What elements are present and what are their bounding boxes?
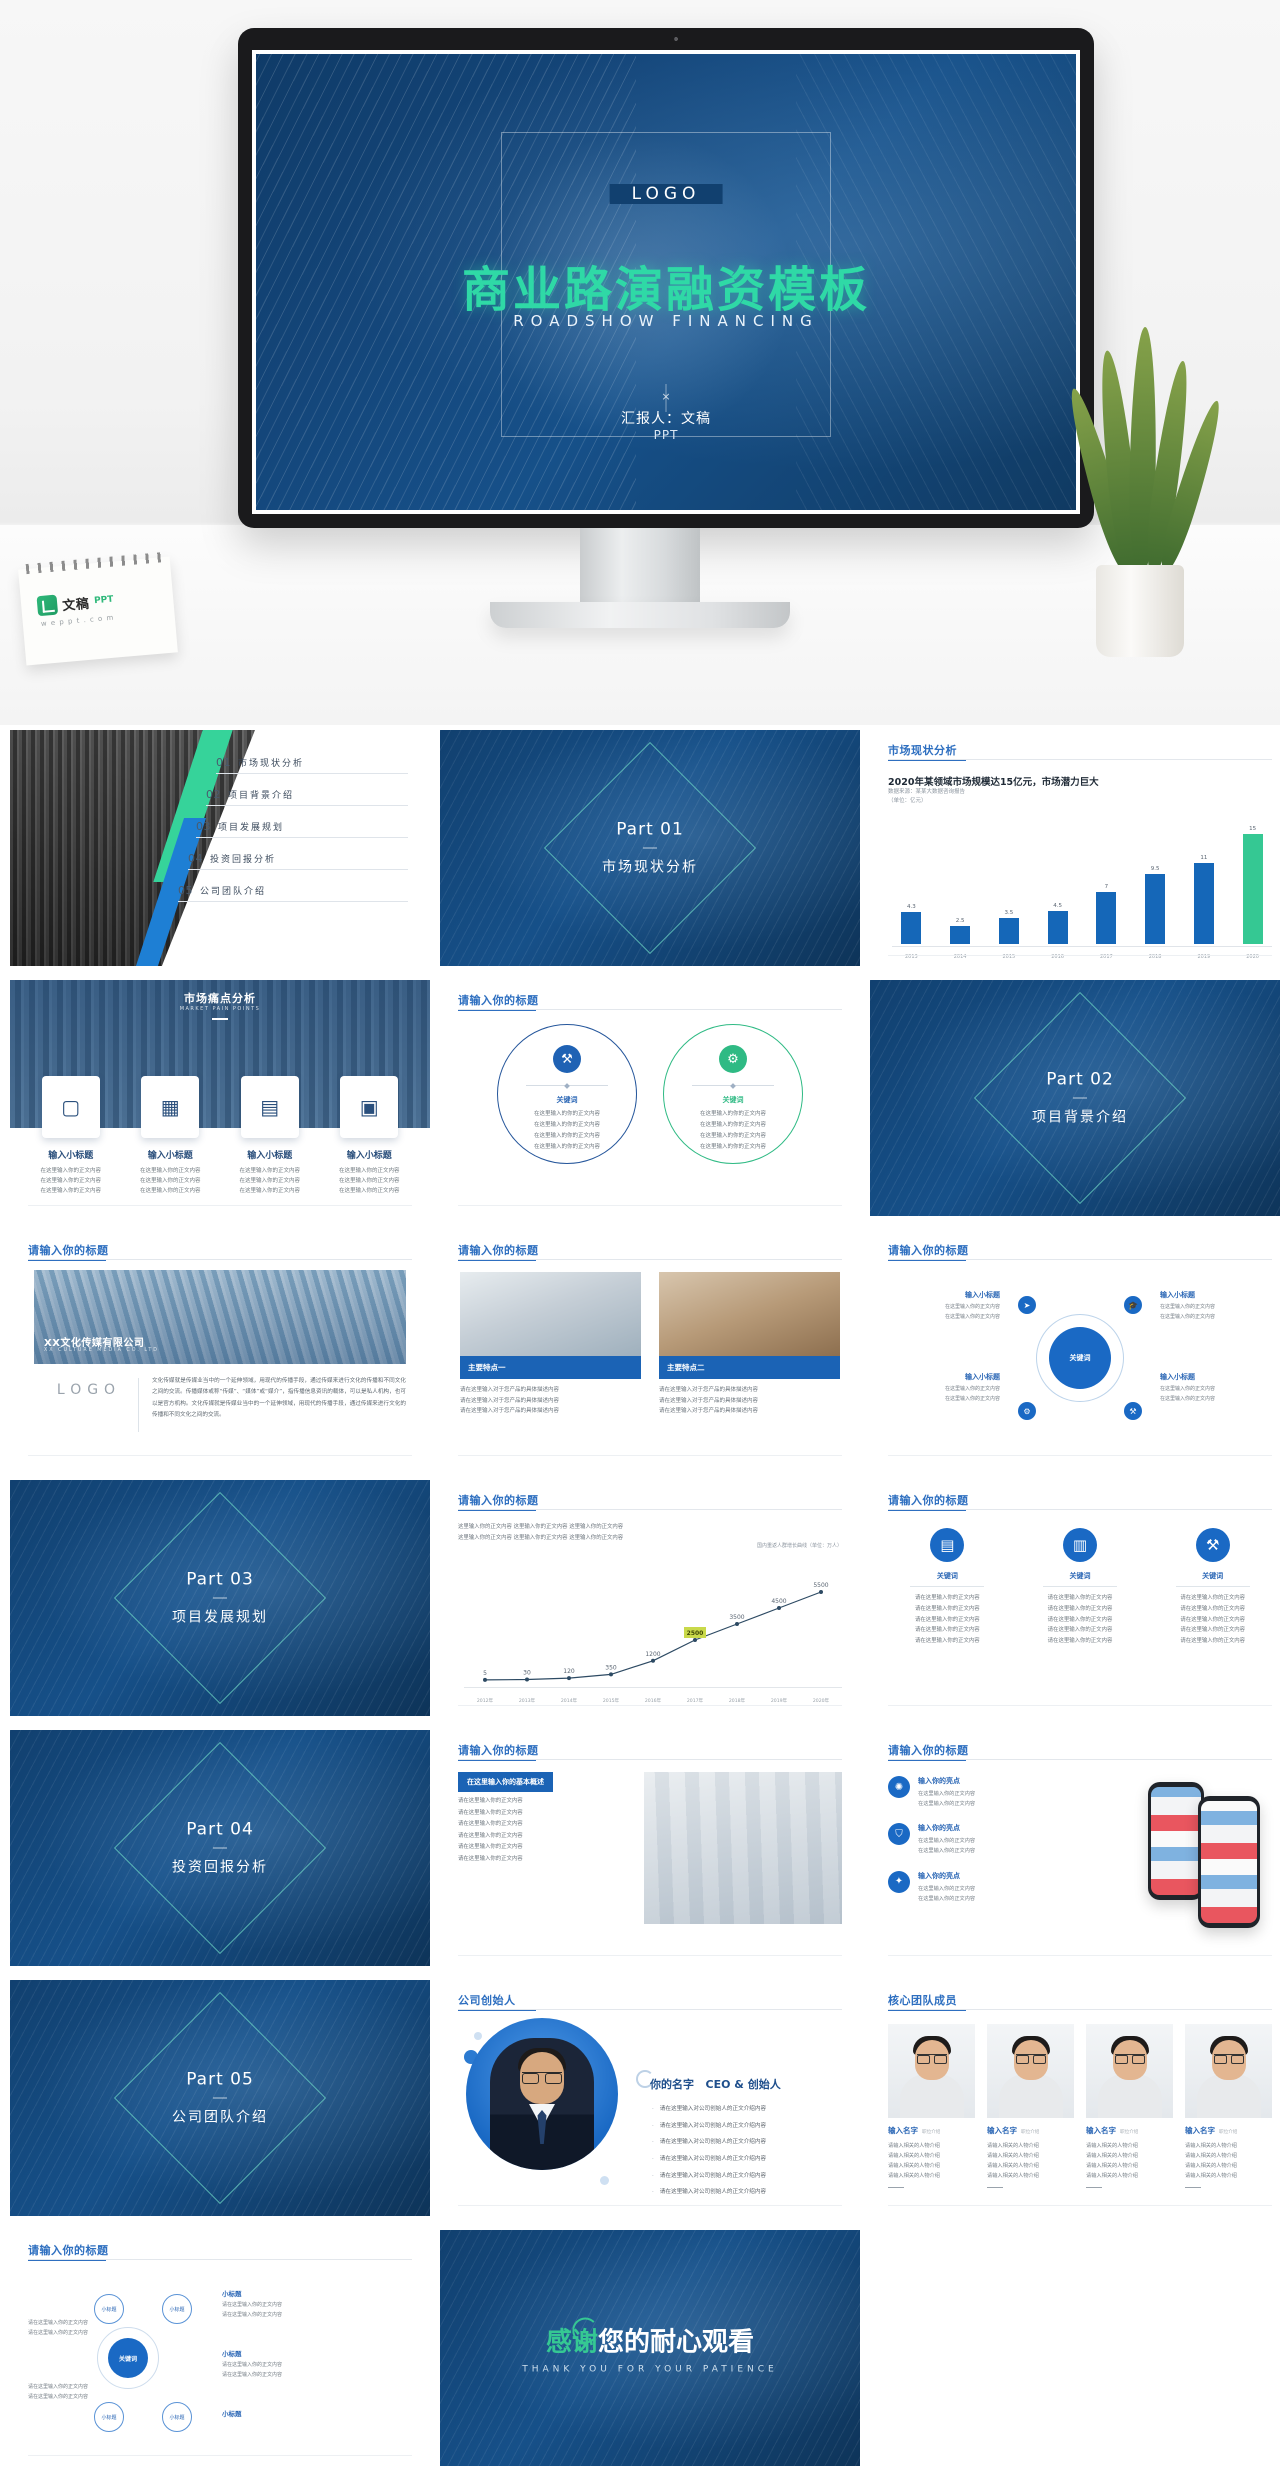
chart-blurb-line1: 这里输入你的正文内容 这里输入你的正文内容 这里输入你的正文内容 bbox=[458, 1524, 623, 1530]
radial-title: 小标题 bbox=[222, 2348, 330, 2358]
founder-bullets: 请在这里输入对公司创始人的正文介绍内容请在这里输入对公司创始人的正文介绍内容请在… bbox=[652, 2104, 842, 2204]
pain-point-card[interactable]: ▦输入小标题在这里输入你的正文内容在这里输入你的正文内容在这里输入你的正文内容 bbox=[128, 1076, 214, 1197]
title-rule bbox=[28, 1259, 412, 1260]
bar bbox=[1145, 874, 1165, 944]
keyword-body: 请在这里输入你的正文内容请在这里输入你的正文内容请在这里输入你的正文内容请在这里… bbox=[1021, 1593, 1140, 1647]
slide-core-team[interactable]: 核心团队成员 输入名字职位介绍请输入相关的人物介绍请输入相关的人物介绍请输入相关… bbox=[870, 1980, 1280, 2216]
team-member-card[interactable]: 输入名字职位介绍请输入相关的人物介绍请输入相关的人物介绍请输入相关的人物介绍请输… bbox=[1086, 2024, 1173, 2188]
part-heading: Part 01 市场现状分析 bbox=[550, 820, 750, 877]
bar-value-label: 4.3 bbox=[907, 904, 916, 910]
toc-item[interactable]: 05 公司团队介绍 bbox=[178, 884, 408, 902]
icon-tile: ▦ bbox=[141, 1076, 199, 1138]
founder-bullet: 请在这里输入对公司创始人的正文介绍内容 bbox=[652, 2121, 842, 2132]
feature-body: 请在这里输入对于您产品的具体描述内容请在这里输入对于您产品的具体描述内容请在这里… bbox=[659, 1385, 840, 1417]
bar bbox=[1096, 892, 1116, 944]
desk-photo bbox=[644, 1772, 842, 1924]
tools-icon: ⚒ bbox=[553, 1045, 581, 1073]
inbox-icon: ▣ bbox=[360, 1095, 379, 1119]
highlight-body: 在这里输入你的正文内容在这里输入你的正文内容 bbox=[918, 1789, 975, 1809]
page-title: 请输入你的标题 bbox=[458, 1742, 539, 1758]
founder-role: CEO & 创始人 bbox=[706, 2078, 781, 2091]
chart-source-line: 数据来源：某某大数据咨询报告 bbox=[888, 789, 965, 795]
member-photo bbox=[888, 2024, 975, 2118]
keyword-label: 关键词 bbox=[888, 1571, 1007, 1581]
member-name: 输入名字职位介绍 bbox=[1185, 2125, 1272, 2136]
radial-title: 小标题 bbox=[222, 2408, 330, 2418]
title-rule bbox=[458, 2009, 842, 2010]
card-body: 在这里输入你的正文内容在这里输入你的正文内容在这里输入你的正文内容 bbox=[28, 1166, 114, 1197]
hub-center[interactable]: 关键词 bbox=[1049, 1327, 1111, 1389]
part-number: Part 04 bbox=[120, 1820, 320, 1840]
highlight-body: 在这里输入你的正文内容在这里输入你的正文内容 bbox=[918, 1884, 975, 1904]
slide-mobile-highlights[interactable]: 请输入你的标题 ✺ 输入你的亮点 在这里输入你的正文内容在这里输入你的正文内容 … bbox=[870, 1730, 1280, 1966]
slide-radial-keywords[interactable]: 请输入你的标题 关键词 小标题 小标题 小标题 小标题 请在这里输入你的正文内容… bbox=[10, 2230, 430, 2466]
slide-part-01[interactable]: Part 01 市场现状分析 bbox=[440, 730, 860, 966]
bar-column: 2.5 bbox=[941, 826, 980, 944]
chart-blurb-line2: 这里输入你的正文内容 这里输入你的正文内容 这里输入你的正文内容 bbox=[458, 1535, 623, 1541]
toc-item[interactable]: 03 项目发展规划 bbox=[196, 820, 408, 838]
part-number: Part 01 bbox=[550, 820, 750, 840]
tie-shape bbox=[538, 2110, 547, 2144]
card-title: 输入小标题 bbox=[227, 1148, 313, 1161]
part-heading: Part 03 项目发展规划 bbox=[120, 1570, 320, 1627]
slide-part-03[interactable]: Part 03 项目发展规划 bbox=[10, 1480, 430, 1716]
member-name: 输入名字职位介绍 bbox=[1086, 2125, 1173, 2136]
founder-name: 你的名字 bbox=[650, 2078, 694, 2091]
thanks-block: 感谢您的耐心观看 THANK YOU FOR YOUR PATIENCE bbox=[522, 2322, 777, 2375]
feature-card[interactable]: 主要特点一 请在这里输入对于您产品的具体描述内容请在这里输入对于您产品的具体描述… bbox=[460, 1272, 641, 1417]
line-value-label: 2500 bbox=[687, 1630, 704, 1637]
feature-title: 主要特点一 bbox=[460, 1356, 641, 1379]
slide-part-05[interactable]: Part 05 公司团队介绍 bbox=[10, 1980, 430, 2216]
bar bbox=[999, 918, 1019, 944]
column-divider bbox=[910, 1586, 984, 1587]
chart-headline: 2020年某领域市场规模达15亿元，市场潜力巨大 bbox=[888, 774, 1099, 788]
hub-item[interactable]: 输入小标题 在这里输入你的正文内容在这里输入你的正文内容 bbox=[888, 1372, 1000, 1404]
title-underline bbox=[212, 1018, 228, 1020]
part-divider bbox=[213, 2098, 227, 2099]
slide-product-features[interactable]: 请输入你的标题 主要特点一 请在这里输入对于您产品的具体描述内容请在这里输入对于… bbox=[440, 1230, 860, 1466]
company-description: 文化传媒就是传媒业当中的一个延伸领域，用现代的传播手段，通过传媒来进行文化的传播… bbox=[152, 1376, 406, 1422]
presentation-subtitle: ROADSHOW FINANCING bbox=[513, 312, 818, 330]
keyword-columns: ▤ 关键词 请在这里输入你的正文内容请在这里输入你的正文内容请在这里输入你的正文… bbox=[888, 1528, 1272, 1647]
feature-card[interactable]: 主要特点二 请在这里输入对于您产品的具体描述内容请在这里输入对于您产品的具体描述… bbox=[659, 1272, 840, 1417]
footer-rule bbox=[888, 1705, 1272, 1706]
title-rule bbox=[888, 2009, 1272, 2010]
founder-bullet: 请在这里输入对公司创始人的正文介绍内容 bbox=[652, 2104, 842, 2115]
keyword-circle-green[interactable]: ⚙ 关键词 在这里输入的你的正文内容在这里输入的你的正文内容在这里输入的你的正文… bbox=[663, 1024, 803, 1164]
member-role: 职位介绍 bbox=[1219, 2130, 1237, 2135]
member-body: 请输入相关的人物介绍请输入相关的人物介绍请输入相关的人物介绍请输入相关的人物介绍 bbox=[1185, 2141, 1272, 2182]
card-title: 输入小标题 bbox=[327, 1148, 413, 1161]
bullet-text: 请在这里输入对公司创始人的正文介绍内容 bbox=[660, 2121, 766, 2132]
line-point bbox=[567, 1676, 571, 1680]
page-title: 请输入你的标题 bbox=[458, 1492, 539, 1508]
page-title: 市场现状分析 bbox=[888, 742, 957, 758]
cap-icon: 🎓 bbox=[1124, 1296, 1142, 1314]
hub-item-body: 在这里输入你的正文内容在这里输入你的正文内容 bbox=[1160, 1385, 1272, 1404]
part-number: Part 05 bbox=[120, 2070, 320, 2090]
member-body: 请输入相关的人物介绍请输入相关的人物介绍请输入相关的人物介绍请输入相关的人物介绍 bbox=[1086, 2141, 1173, 2182]
icon-tile: ▣ bbox=[340, 1076, 398, 1138]
radial-text: 请在这里输入你的正文内容请在这里输入你的正文内容 bbox=[28, 2380, 136, 2402]
slide-three-keywords[interactable]: 请输入你的标题 ▤ 关键词 请在这里输入你的正文内容请在这里输入你的正文内容请在… bbox=[870, 1480, 1280, 1716]
radial-body: 请在这里输入你的正文内容请在这里输入你的正文内容 bbox=[28, 2383, 136, 2402]
bar bbox=[1048, 911, 1068, 944]
footer-rule bbox=[458, 1705, 842, 1706]
bar-column: 7 bbox=[1087, 826, 1126, 944]
body-shape bbox=[900, 2074, 964, 2118]
page-title: 请输入你的标题 bbox=[28, 1242, 109, 1258]
phone-mockup-back bbox=[1148, 1782, 1204, 1900]
line-value-label: 4500 bbox=[771, 1598, 786, 1605]
line-x-label: 2017年 bbox=[674, 1698, 716, 1704]
line-point bbox=[651, 1659, 655, 1663]
bar-chart: 4.32.53.54.579.51115 bbox=[892, 826, 1272, 944]
chart-source: 数据来源：某某大数据咨询报告 （单位：亿元） bbox=[888, 788, 965, 807]
line-point bbox=[693, 1638, 697, 1642]
toc-label: 项目发展规划 bbox=[218, 820, 284, 833]
title-rule bbox=[458, 1259, 842, 1260]
line-point bbox=[777, 1606, 781, 1610]
circle-divider bbox=[692, 1085, 774, 1086]
toc-item[interactable]: 01 市场现状分析 bbox=[216, 756, 408, 774]
hub-item-body: 在这里输入你的正文内容在这里输入你的正文内容 bbox=[1160, 1303, 1272, 1322]
reporter-line: 汇报人：文稿 bbox=[621, 408, 711, 428]
toc-number: 02 bbox=[206, 788, 221, 801]
member-underline bbox=[1086, 2187, 1102, 2188]
bar-value-label: 11 bbox=[1200, 855, 1207, 861]
page-title: 请输入你的标题 bbox=[458, 1242, 539, 1258]
team-member-card[interactable]: 输入名字职位介绍请输入相关的人物介绍请输入相关的人物介绍请输入相关的人物介绍请输… bbox=[1185, 2024, 1272, 2188]
member-body: 请输入相关的人物介绍请输入相关的人物介绍请输入相关的人物介绍请输入相关的人物介绍 bbox=[987, 2141, 1074, 2182]
line-path bbox=[485, 1592, 821, 1680]
radial-text: 小标题 请在这里输入你的正文内容请在这里输入你的正文内容 bbox=[222, 2288, 330, 2320]
slide-growth-chart[interactable]: 请输入你的标题 这里输入你的正文内容 这里输入你的正文内容 这里输入你的正文内容… bbox=[440, 1480, 860, 1716]
team-member-card[interactable]: 输入名字职位介绍请输入相关的人物介绍请输入相关的人物介绍请输入相关的人物介绍请输… bbox=[888, 2024, 975, 2188]
feature-photo bbox=[659, 1272, 840, 1356]
part-name: 市场现状分析 bbox=[550, 857, 750, 877]
line-point bbox=[735, 1622, 739, 1626]
radial-body: 请在这里输入你的正文内容请在这里输入你的正文内容 bbox=[222, 2301, 330, 2320]
toc-item[interactable]: 02 项目背景介绍 bbox=[206, 788, 408, 806]
founder-figure bbox=[490, 2038, 594, 2170]
founder-bullet: 请在这里输入对公司创始人的正文介绍内容 bbox=[652, 2171, 842, 2182]
title-rule bbox=[458, 1509, 842, 1510]
bar-value-label: 2.5 bbox=[956, 918, 965, 924]
toc-label: 项目背景介绍 bbox=[228, 788, 294, 801]
vertical-divider bbox=[138, 1378, 139, 1432]
line-chart: 53012035012002500350045005500 bbox=[464, 1568, 842, 1686]
title-rule bbox=[888, 1759, 1272, 1760]
pain-point-card[interactable]: ▢输入小标题在这里输入你的正文内容在这里输入你的正文内容在这里输入你的正文内容 bbox=[28, 1076, 114, 1197]
decor-dot bbox=[474, 2032, 482, 2040]
presentation-title: 商业路演融资模板 bbox=[462, 250, 870, 320]
phone-mockup-front bbox=[1198, 1796, 1260, 1928]
send-icon: ➤ bbox=[1018, 1296, 1036, 1314]
line-value-label: 1200 bbox=[645, 1651, 660, 1658]
brand-suffix: PPT bbox=[94, 595, 114, 607]
founder-portrait bbox=[466, 2018, 618, 2170]
bar-column: 9.5 bbox=[1136, 826, 1175, 944]
brand-mark-icon bbox=[36, 595, 58, 617]
bullet-text: 请在这里输入对公司创始人的正文介绍内容 bbox=[660, 2137, 766, 2148]
bar-value-label: 15 bbox=[1249, 826, 1256, 832]
toc-number: 05 bbox=[178, 884, 193, 897]
line-value-label: 30 bbox=[523, 1670, 531, 1677]
bar-value-label: 4.5 bbox=[1053, 903, 1062, 909]
part-number: Part 02 bbox=[980, 1070, 1180, 1090]
keyword-column[interactable]: ▤ 关键词 请在这里输入你的正文内容请在这里输入你的正文内容请在这里输入你的正文… bbox=[888, 1528, 1007, 1647]
toc-label: 投资回报分析 bbox=[210, 852, 276, 865]
reporter-line-2: PPT bbox=[654, 428, 679, 442]
bar-column: 15 bbox=[1233, 826, 1272, 944]
glasses-icon bbox=[917, 2054, 947, 2061]
pain-point-card[interactable]: ▣输入小标题在这里输入你的正文内容在这里输入你的正文内容在这里输入你的正文内容 bbox=[327, 1076, 413, 1197]
footer-rule bbox=[458, 1955, 842, 1956]
bullet-text: 请在这里输入对公司创始人的正文介绍内容 bbox=[660, 2187, 766, 2198]
atom-icon: ✺ bbox=[888, 1776, 910, 1798]
highlight-item[interactable]: ✺ 输入你的亮点 在这里输入你的正文内容在这里输入你的正文内容 bbox=[888, 1776, 1100, 1809]
line-x-label: 2016年 bbox=[632, 1698, 674, 1704]
highlight-item[interactable]: ⛉ 输入你的亮点 在这里输入你的正文内容在这里输入你的正文内容 bbox=[888, 1823, 1100, 1856]
line-value-label: 120 bbox=[563, 1668, 575, 1675]
hub-item-body: 在这里输入你的正文内容在这里输入你的正文内容 bbox=[888, 1385, 1000, 1404]
part-divider bbox=[1073, 1098, 1087, 1099]
member-role: 职位介绍 bbox=[1120, 2130, 1138, 2135]
logo-placeholder: LOGO bbox=[52, 1382, 126, 1399]
toc-label: 公司团队介绍 bbox=[200, 884, 266, 897]
book-icon: ▤ bbox=[260, 1095, 279, 1119]
keyword-label: 关键词 bbox=[498, 1095, 636, 1105]
line-chart-svg: 53012035012002500350045005500 bbox=[464, 1568, 842, 1686]
card-body: 在这里输入你的正文内容在这里输入你的正文内容在这里输入你的正文内容 bbox=[227, 1166, 313, 1197]
hub-item[interactable]: 输入小标题 在这里输入你的正文内容在这里输入你的正文内容 bbox=[1160, 1372, 1272, 1404]
circle-divider bbox=[526, 1085, 608, 1086]
hub-item-title: 输入小标题 bbox=[888, 1372, 1000, 1382]
bar-column: 4.5 bbox=[1038, 826, 1077, 944]
toc-label: 市场现状分析 bbox=[238, 756, 304, 769]
toc-number: 04 bbox=[188, 852, 203, 865]
line-x-label: 2014年 bbox=[548, 1698, 590, 1704]
card-body: 在这里输入你的正文内容在这里输入你的正文内容在这里输入你的正文内容 bbox=[327, 1166, 413, 1197]
slide-keyword-hub[interactable]: 请输入你的标题 关键词 输入小标题 在这里输入你的正文内容在这里输入你的正文内容… bbox=[870, 1230, 1280, 1466]
title-rule bbox=[458, 1759, 842, 1760]
line-point bbox=[819, 1590, 823, 1594]
part-name: 项目背景介绍 bbox=[980, 1107, 1180, 1127]
page-title: 请输入你的标题 bbox=[888, 1242, 969, 1258]
title-rule bbox=[888, 1509, 1272, 1510]
slide-thank-you[interactable]: 感谢您的耐心观看 THANK YOU FOR YOUR PATIENCE bbox=[440, 2230, 860, 2466]
keyword-body: 请在这里输入你的正文内容请在这里输入你的正文内容请在这里输入你的正文内容请在这里… bbox=[1153, 1593, 1272, 1647]
highlight-title: 输入你的亮点 bbox=[918, 1871, 975, 1881]
title-rule bbox=[888, 1259, 1272, 1260]
bullet-text: 请在这里输入对公司创始人的正文介绍内容 bbox=[660, 2171, 766, 2182]
part-number: Part 03 bbox=[120, 1570, 320, 1590]
part-name: 项目发展规划 bbox=[120, 1607, 320, 1627]
member-underline bbox=[888, 2187, 904, 2188]
slide-market-status-chart[interactable]: 市场现状分析 2020年某领域市场规模达15亿元，市场潜力巨大 数据来源：某某大… bbox=[870, 730, 1280, 966]
glasses-icon bbox=[522, 2072, 562, 2081]
notepad: 文稿 PPT w e p p t . c o m bbox=[18, 557, 178, 666]
radial-text: 请在这里输入你的正文内容请在这里输入你的正文内容 bbox=[28, 2316, 136, 2338]
slide-company-intro[interactable]: 请输入你的标题 XX文化传媒有限公司 XX CULTURE MEDIA CO. … bbox=[10, 1230, 430, 1466]
keyword-column[interactable]: ▥ 关键词 请在这里输入你的正文内容请在这里输入你的正文内容请在这里输入你的正文… bbox=[1021, 1528, 1140, 1647]
founder-bullet: 请在这里输入对公司创始人的正文介绍内容 bbox=[652, 2137, 842, 2148]
footer-rule bbox=[458, 1455, 842, 1456]
bar-value-label: 9.5 bbox=[1151, 866, 1160, 872]
founder-bullet: 请在这里输入对公司创始人的正文介绍内容 bbox=[652, 2187, 842, 2198]
toc-number: 03 bbox=[196, 820, 211, 833]
monitor-stand-base bbox=[490, 602, 790, 628]
feature-photo bbox=[460, 1272, 641, 1356]
keyword-label: 关键词 bbox=[1153, 1571, 1272, 1581]
hub-item-title: 输入小标题 bbox=[945, 1290, 1000, 1300]
page-title: 公司创始人 bbox=[458, 1992, 516, 2008]
bar bbox=[1194, 863, 1214, 944]
line-x-label: 2015年 bbox=[590, 1698, 632, 1704]
radial-text: 小标题 请在这里输入你的正文内容请在这里输入你的正文内容 bbox=[222, 2348, 330, 2380]
line-x-label: 2020年 bbox=[800, 1698, 842, 1704]
toc-list: 01 市场现状分析 02 项目背景介绍 03 项目发展规划 04 投资回报分析 … bbox=[188, 756, 408, 916]
chart-x-axis bbox=[464, 1687, 842, 1688]
highlight-list: ✺ 输入你的亮点 在这里输入你的正文内容在这里输入你的正文内容 ⛉ 输入你的亮点… bbox=[888, 1776, 1100, 1918]
thanks-line: 感谢您的耐心观看 bbox=[522, 2322, 777, 2359]
keyword-circles: ⚒ 关键词 在这里输入的你的正文内容在这里输入的你的正文内容在这里输入的你的正文… bbox=[462, 1024, 838, 1164]
bar-column: 11 bbox=[1185, 826, 1224, 944]
toc-item[interactable]: 04 投资回报分析 bbox=[188, 852, 408, 870]
hub-item[interactable]: 输入小标题 在这里输入你的正文内容在这里输入你的正文内容 bbox=[888, 1290, 1000, 1322]
member-name: 输入名字职位介绍 bbox=[987, 2125, 1074, 2136]
line-point bbox=[525, 1678, 529, 1682]
feature-title: 主要特点二 bbox=[659, 1356, 840, 1379]
divider-mark: × bbox=[661, 390, 670, 403]
cube-icon: ▢ bbox=[61, 1095, 80, 1119]
bar-column: 4.3 bbox=[892, 826, 931, 944]
plant-pot bbox=[1096, 565, 1184, 657]
part-heading: Part 04 投资回报分析 bbox=[120, 1820, 320, 1877]
brand-url: w e p p t . c o m bbox=[41, 614, 115, 628]
footer-rule bbox=[28, 1205, 412, 1206]
part-divider bbox=[213, 1848, 227, 1849]
highlight-item[interactable]: ✦ 输入你的亮点 在这里输入你的正文内容在这里输入你的正文内容 bbox=[888, 1871, 1100, 1904]
slide-two-keywords[interactable]: 请输入你的标题 ⚒ 关键词 在这里输入的你的正文内容在这里输入的你的正文内容在这… bbox=[440, 980, 860, 1216]
pain-point-cards: ▢输入小标题在这里输入你的正文内容在这里输入你的正文内容在这里输入你的正文内容▦… bbox=[28, 1076, 412, 1197]
hub-item[interactable]: 输入小标题 在这里输入你的正文内容在这里输入你的正文内容 bbox=[1160, 1290, 1272, 1322]
hub-item-title: 输入小标题 bbox=[1160, 1372, 1272, 1382]
card-title: 输入小标题 bbox=[28, 1148, 114, 1161]
company-name: XX文化传媒有限公司 bbox=[44, 1334, 144, 1349]
member-photo bbox=[1185, 2024, 1272, 2118]
bulb-icon: ✦ bbox=[888, 1871, 910, 1893]
footer-rule bbox=[28, 2455, 412, 2456]
radial-node[interactable]: 小标题 bbox=[162, 2294, 192, 2324]
brand-logo: 文稿 PPT bbox=[36, 590, 114, 617]
founder-name-role: 你的名字 CEO & 创始人 bbox=[650, 2076, 781, 2092]
page-title: 请输入你的标题 bbox=[28, 2242, 109, 2258]
keyword-label: 关键词 bbox=[1021, 1571, 1140, 1581]
glasses-icon bbox=[1115, 2054, 1145, 2061]
slide-table-of-contents[interactable]: 01 市场现状分析 02 项目背景介绍 03 项目发展规划 04 投资回报分析 … bbox=[10, 730, 430, 966]
member-photo bbox=[987, 2024, 1074, 2118]
shield-icon: ⛉ bbox=[888, 1823, 910, 1845]
decor-dot bbox=[600, 2176, 609, 2185]
line-value-label: 350 bbox=[605, 1664, 617, 1671]
part-heading: Part 05 公司团队介绍 bbox=[120, 2070, 320, 2127]
logo-placeholder: LOGO bbox=[610, 184, 723, 204]
team-member-card[interactable]: 输入名字职位介绍请输入相关的人物介绍请输入相关的人物介绍请输入相关的人物介绍请输… bbox=[987, 2024, 1074, 2188]
slide-grid: 01 市场现状分析 02 项目背景介绍 03 项目发展规划 04 投资回报分析 … bbox=[0, 725, 1280, 2471]
body-shape bbox=[1098, 2074, 1162, 2118]
toc-number: 01 bbox=[216, 756, 231, 769]
page-title-en: MARKET PAIN POINTS bbox=[10, 1006, 430, 1012]
slide-part-02[interactable]: Part 02 项目背景介绍 bbox=[870, 980, 1280, 1216]
member-role: 职位介绍 bbox=[922, 2130, 940, 2135]
bar bbox=[950, 926, 970, 944]
column-divider bbox=[1176, 1586, 1250, 1587]
part-divider bbox=[643, 848, 657, 849]
thanks-main: 您的耐心观看 bbox=[598, 2328, 754, 2358]
part-name: 投资回报分析 bbox=[120, 1857, 320, 1877]
footer-rule bbox=[888, 1455, 1272, 1456]
footer-rule bbox=[458, 2205, 842, 2206]
page-title: 核心团队成员 bbox=[888, 1992, 957, 2008]
tools-icon: ⚒ bbox=[1196, 1528, 1230, 1562]
slide-overview-photo[interactable]: 请输入你的标题 在这里输入你的基本概述 请在这里输入你的正文内容请在这里输入你的… bbox=[440, 1730, 860, 1966]
hub-item-title: 输入小标题 bbox=[1160, 1290, 1272, 1300]
highlight-title: 输入你的亮点 bbox=[918, 1776, 975, 1786]
footer-rule bbox=[458, 1205, 842, 1206]
chart-x-axis bbox=[892, 946, 1272, 947]
bar-column: 3.5 bbox=[990, 826, 1029, 944]
feature-body: 请在这里输入对于您产品的具体描述内容请在这里输入对于您产品的具体描述内容请在这里… bbox=[460, 1385, 641, 1417]
part-name: 公司团队介绍 bbox=[120, 2107, 320, 2127]
glasses-icon bbox=[1214, 2054, 1244, 2061]
chart-unit: （单位：亿元） bbox=[888, 798, 927, 804]
monitor-bezel: LOGO 商业路演融资模板 ROADSHOW FINANCING × 汇报人：文… bbox=[238, 28, 1094, 528]
slide-market-pain-points[interactable]: 市场痛点分析 MARKET PAIN POINTS ▢输入小标题在这里输入你的正… bbox=[10, 980, 430, 1216]
line-point bbox=[609, 1672, 613, 1676]
radial-center[interactable]: 关键词 bbox=[108, 2338, 148, 2378]
title-rule bbox=[458, 1009, 842, 1010]
overview-body: 请在这里输入你的正文内容请在这里输入你的正文内容请在这里输入你的正文内容请在这里… bbox=[458, 1796, 628, 1866]
footer-rule bbox=[888, 2205, 1272, 2206]
screen-frame: LOGO 商业路演融资模板 ROADSHOW FINANCING × 汇报人：文… bbox=[252, 50, 1080, 514]
keyword-body: 在这里输入的你的正文内容在这里输入的你的正文内容在这里输入的你的正文内容在这里输… bbox=[512, 1109, 622, 1153]
member-underline bbox=[987, 2187, 1003, 2188]
slide-part-04[interactable]: Part 04 投资回报分析 bbox=[10, 1730, 430, 1966]
monitor-stand-neck bbox=[580, 528, 700, 608]
keyword-column[interactable]: ⚒ 关键词 请在这里输入你的正文内容请在这里输入你的正文内容请在这里输入你的正文… bbox=[1153, 1528, 1272, 1647]
footer-rule bbox=[888, 955, 1272, 956]
slide-founder[interactable]: 公司创始人 你的名字 CEO & 创始人 请在这里输入对公司创始人的正文介绍内容… bbox=[440, 1980, 860, 2216]
hub-item-body: 在这里输入你的正文内容在这里输入你的正文内容 bbox=[945, 1303, 1000, 1322]
book-open-icon: ▥ bbox=[1063, 1528, 1097, 1562]
member-name: 输入名字职位介绍 bbox=[888, 2125, 975, 2136]
body-shape bbox=[1197, 2074, 1261, 2118]
bar-value-label: 3.5 bbox=[1005, 910, 1014, 916]
member-role: 职位介绍 bbox=[1021, 2130, 1039, 2135]
title-rule bbox=[888, 759, 1272, 760]
icon-tile: ▢ bbox=[42, 1076, 100, 1138]
feature-columns: 主要特点一 请在这里输入对于您产品的具体描述内容请在这里输入对于您产品的具体描述… bbox=[460, 1272, 840, 1417]
card-body: 在这里输入你的正文内容在这里输入你的正文内容在这里输入你的正文内容 bbox=[128, 1166, 214, 1197]
keyword-circle-blue[interactable]: ⚒ 关键词 在这里输入的你的正文内容在这里输入的你的正文内容在这里输入的你的正文… bbox=[497, 1024, 637, 1164]
pain-point-card[interactable]: ▤输入小标题在这里输入你的正文内容在这里输入你的正文内容在这里输入你的正文内容 bbox=[227, 1076, 313, 1197]
company-name-en: XX CULTURE MEDIA CO. LTD bbox=[44, 1348, 159, 1353]
radial-title: 小标题 bbox=[222, 2288, 330, 2298]
brand-name: 文稿 bbox=[61, 592, 90, 613]
